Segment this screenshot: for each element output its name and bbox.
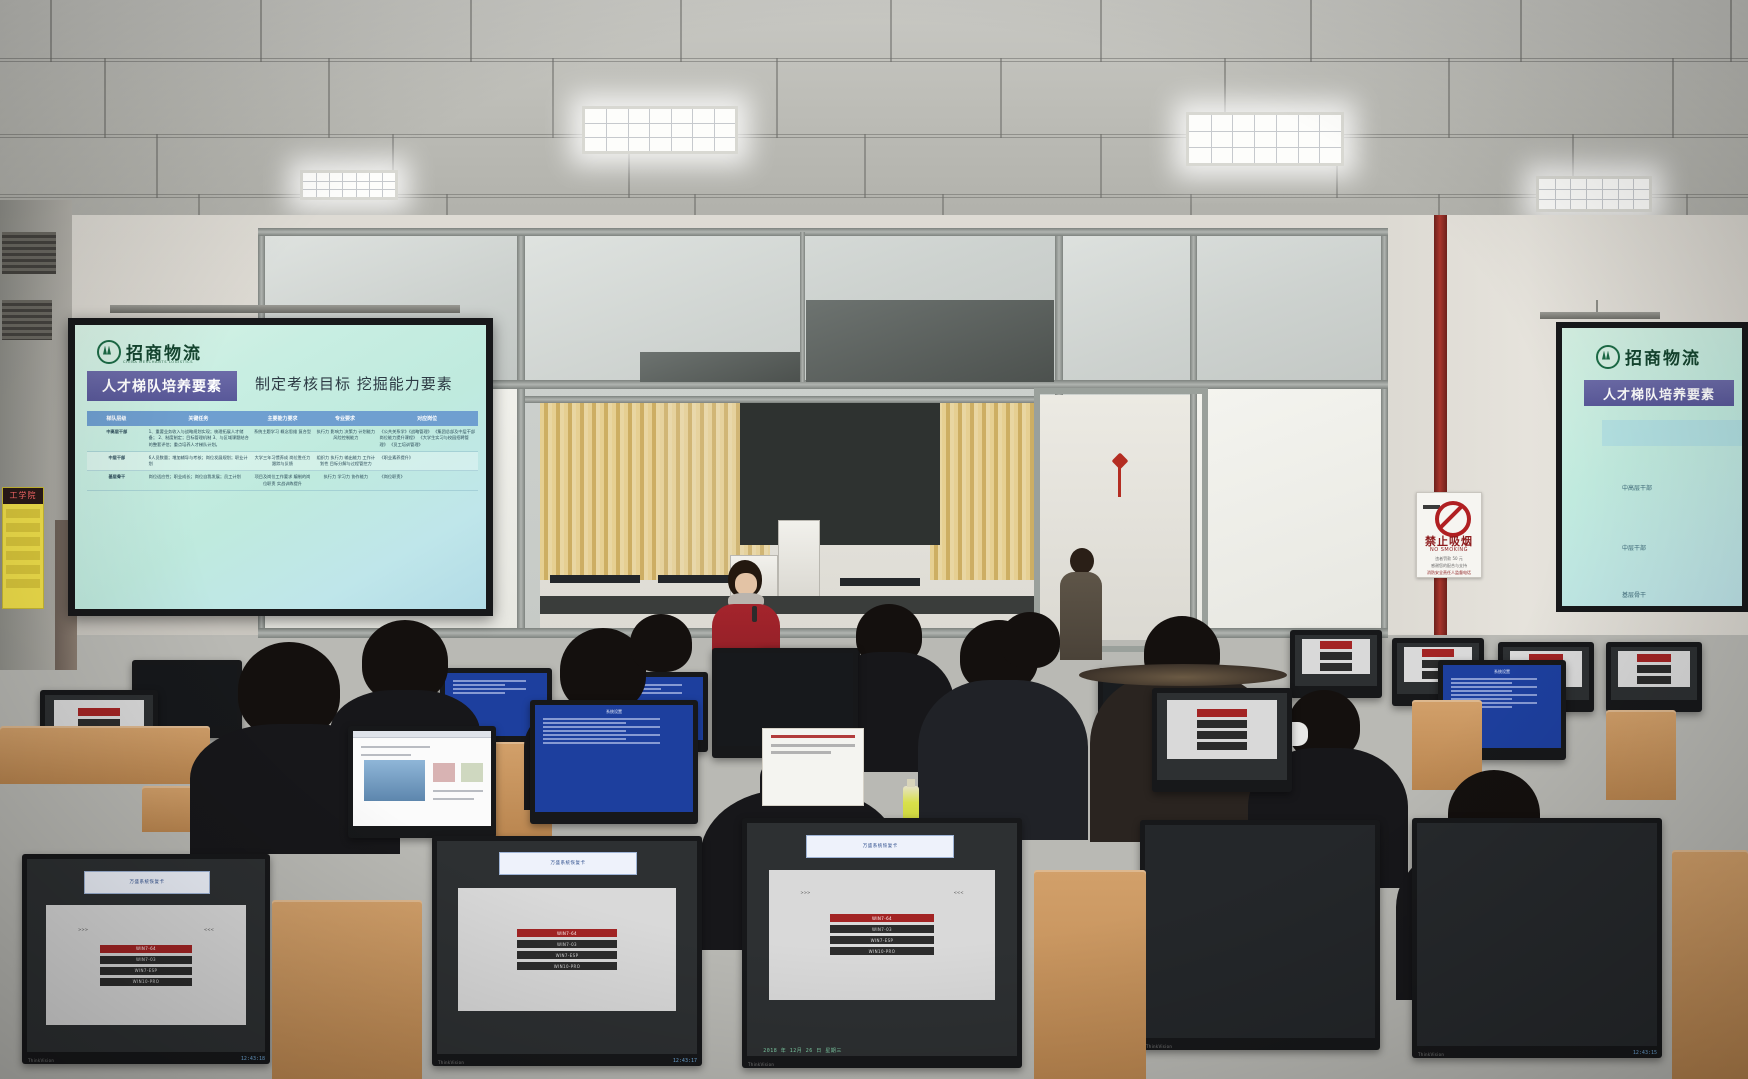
- posted-notice: [762, 728, 864, 806]
- boot-option[interactable]: WIN7-ESP: [100, 967, 192, 975]
- company-logo-icon: [1596, 345, 1620, 369]
- th-ability: 主要能力要求: [251, 415, 314, 422]
- boot-option[interactable]: WIN7-64: [517, 929, 617, 937]
- th-task: 关键任务: [146, 415, 252, 422]
- blue-screen-title: 系统设置: [1447, 669, 1557, 675]
- th-requirement: 专业要求: [314, 415, 377, 422]
- monitor-brand: ThinkVision: [438, 1060, 464, 1065]
- sign-footer: 消防安全责任人监督电话: [1417, 570, 1481, 576]
- monitor-front-left[interactable]: 万盛系统恢复卡 >>> <<< WIN7-64 WIN7-03 WIN7-ESP…: [22, 854, 270, 1064]
- monitor-clock: 12:43:17: [673, 1058, 697, 1064]
- ceiling-tile: [864, 134, 1102, 198]
- monitor-front-right[interactable]: ThinkVision: [1140, 820, 1380, 1050]
- monitor[interactable]: 系统设置: [530, 700, 698, 824]
- boot-option[interactable]: WIN7-ESP: [830, 936, 934, 944]
- ceiling-light-fixture: [1186, 112, 1344, 166]
- ceiling-tile: [1100, 0, 1312, 62]
- th-position: 对应岗位: [376, 415, 478, 422]
- slide-table-header: 梯队层级 关键任务 主要能力要求 专业要求 对应岗位: [87, 411, 478, 426]
- person-body: [918, 680, 1088, 840]
- attendee-coat: [1060, 572, 1102, 660]
- boot-option[interactable]: WIN7-03: [100, 956, 192, 964]
- arrow-left: >>>: [800, 890, 810, 895]
- sign-text-en: NO SMOKING: [1417, 547, 1481, 553]
- standing-attendee: [1058, 548, 1104, 660]
- drop-ceiling: [0, 0, 1748, 250]
- secondary-slide-tag: 人才梯队培养要素: [1584, 380, 1734, 406]
- ceiling-tile: [50, 0, 262, 62]
- boot-option[interactable]: WIN10-PRO: [517, 962, 617, 970]
- ceiling-light-fixture: [1536, 176, 1652, 212]
- air-vent-icon: [2, 232, 56, 274]
- ceiling-tile: [0, 58, 106, 138]
- th-level: 梯队层级: [87, 415, 146, 422]
- monitor-front-far-right[interactable]: ThinkVision 12:43:15: [1412, 818, 1662, 1058]
- blue-screen-title: 系统设置: [539, 709, 689, 715]
- boot-option[interactable]: WIN10-PRO: [830, 947, 934, 955]
- screen-label: 万盛系统恢复卡: [806, 835, 954, 858]
- ceiling-tile: [776, 58, 1002, 138]
- slide-title-tag-label: 人才梯队培养要素: [102, 376, 222, 396]
- table-row: 基层骨干 岗位适应性；职业成长；岗位自我发展；员工计划 项目及岗位工作要求 编制…: [87, 471, 478, 491]
- secondary-row-label: 中高层干部: [1622, 483, 1652, 492]
- ceiling-tile: [1730, 0, 1748, 62]
- inner-room-view: [540, 400, 1060, 638]
- secondary-screen-roller: [1540, 312, 1660, 319]
- chinese-knot-decoration: [1112, 455, 1128, 497]
- monitor[interactable]: [1152, 688, 1292, 792]
- no-smoking-sign: 禁止吸烟 NO SMOKING 违者罚款 50 元 感谢您的配合与支持 消防安全…: [1416, 492, 1482, 578]
- table-row: 中层干部 6人员数量；增加辅导与考核；岗位发展规划；职业计划 大学三年习惯养成 …: [87, 452, 478, 472]
- slide-logo: 招商物流 CHINA MERCHANTS LOGISTICS: [97, 339, 202, 364]
- boot-option[interactable]: WIN7-64: [830, 914, 934, 922]
- poster-header: 工学院: [3, 488, 43, 504]
- arrow-left: >>>: [78, 927, 88, 932]
- left-wall-poster: 工学院: [2, 487, 44, 609]
- boot-option[interactable]: WIN10-PRO: [100, 978, 192, 986]
- boot-option[interactable]: WIN7-03: [830, 925, 934, 933]
- ceiling-tile: [260, 0, 472, 62]
- main-projection-screen: 招商物流 CHINA MERCHANTS LOGISTICS 人才梯队培养要素 …: [68, 318, 493, 616]
- secondary-logo-name: 招商物流: [1625, 344, 1701, 369]
- boot-option[interactable]: WIN7-ESP: [517, 951, 617, 959]
- air-vent-icon: [2, 300, 52, 340]
- monitor-front-mid-left[interactable]: 万盛系统恢复卡 WIN7-64 WIN7-03 WIN7-ESP WIN10-P…: [432, 836, 702, 1066]
- ceiling-tile: [328, 58, 554, 138]
- monitor-brand: ThinkVision: [28, 1058, 54, 1063]
- ceiling-tile: [1310, 0, 1522, 62]
- monitor-date-strip: 2018 年 12月 26 日 星期三: [763, 1047, 842, 1054]
- monitor-front-center[interactable]: 万盛系统恢复卡 >>> <<< WIN7-64 WIN7-03 WIN7-ESP…: [742, 818, 1022, 1068]
- slide-headline: 制定考核目标 挖掘能力要素: [255, 373, 453, 394]
- person-head: [630, 614, 692, 672]
- secondary-projection-screen: 招商物流 人才梯队培养要素 中高层干部 中层干部 基层骨干: [1556, 322, 1748, 612]
- monitor-clock: 12:43:18: [241, 1056, 265, 1062]
- arrow-right: <<<: [204, 927, 214, 932]
- secondary-row-label: 中层干部: [1622, 543, 1646, 552]
- presenter-face: [735, 573, 757, 595]
- company-logo-icon: [97, 340, 121, 364]
- ceiling-tile: [1672, 58, 1748, 138]
- monitor-clock: 12:43:15: [1633, 1050, 1657, 1056]
- ceiling-tile: [104, 58, 330, 138]
- arrow-right: <<<: [954, 890, 964, 895]
- monitor-brand: ThinkVision: [1418, 1052, 1444, 1057]
- ceiling-tile: [1520, 0, 1732, 62]
- slide-logo-subtitle: CHINA MERCHANTS LOGISTICS: [123, 360, 193, 364]
- ceiling-tile: [0, 134, 158, 198]
- monitor-brand: ThinkVision: [748, 1062, 774, 1067]
- screen-label: 万盛系统恢复卡: [499, 852, 636, 875]
- attendee-head: [1070, 548, 1094, 574]
- boot-option[interactable]: WIN7-03: [517, 940, 617, 948]
- slide-table: 梯队层级 关键任务 主要能力要求 专业要求 对应岗位 中高层干部 1、重要业务收…: [87, 411, 478, 605]
- monitor[interactable]: [1290, 630, 1382, 698]
- ceiling-tile: [680, 0, 892, 62]
- ceiling-tile: [0, 0, 52, 62]
- monitor-brand: ThinkVision: [1146, 1044, 1172, 1049]
- prohibition-icon: [1435, 501, 1471, 537]
- boot-option[interactable]: WIN7-64: [100, 945, 192, 953]
- secondary-row-label: 基层骨干: [1622, 590, 1646, 599]
- slide-title-tag: 人才梯队培养要素: [87, 371, 237, 401]
- monitor-webpage[interactable]: [348, 726, 496, 838]
- ceiling-light-fixture: [582, 106, 738, 154]
- ceiling-tile: [1448, 58, 1674, 138]
- ceiling-tile: [470, 0, 682, 62]
- person-head: [1000, 612, 1060, 668]
- ceiling-light-fixture: [300, 170, 398, 200]
- table-row: 中高层干部 1、重要业务收入与战略规划实现；梳理拓展人才储备； 2、制度制定；目…: [87, 426, 478, 452]
- sign-line3: 违者罚款 50 元: [1417, 556, 1481, 562]
- projector-screen-roller: [110, 305, 460, 313]
- screen-label: 万盛系统恢复卡: [84, 871, 210, 894]
- ceiling-tile: [890, 0, 1102, 62]
- classroom-photo: 工学院 禁止吸烟: [0, 0, 1748, 1079]
- microphone-icon: [752, 606, 757, 622]
- secondary-slide-tag-label: 人才梯队培养要素: [1603, 384, 1715, 403]
- monitor[interactable]: [1606, 642, 1702, 712]
- sign-line4: 感谢您的配合与支持: [1417, 563, 1481, 569]
